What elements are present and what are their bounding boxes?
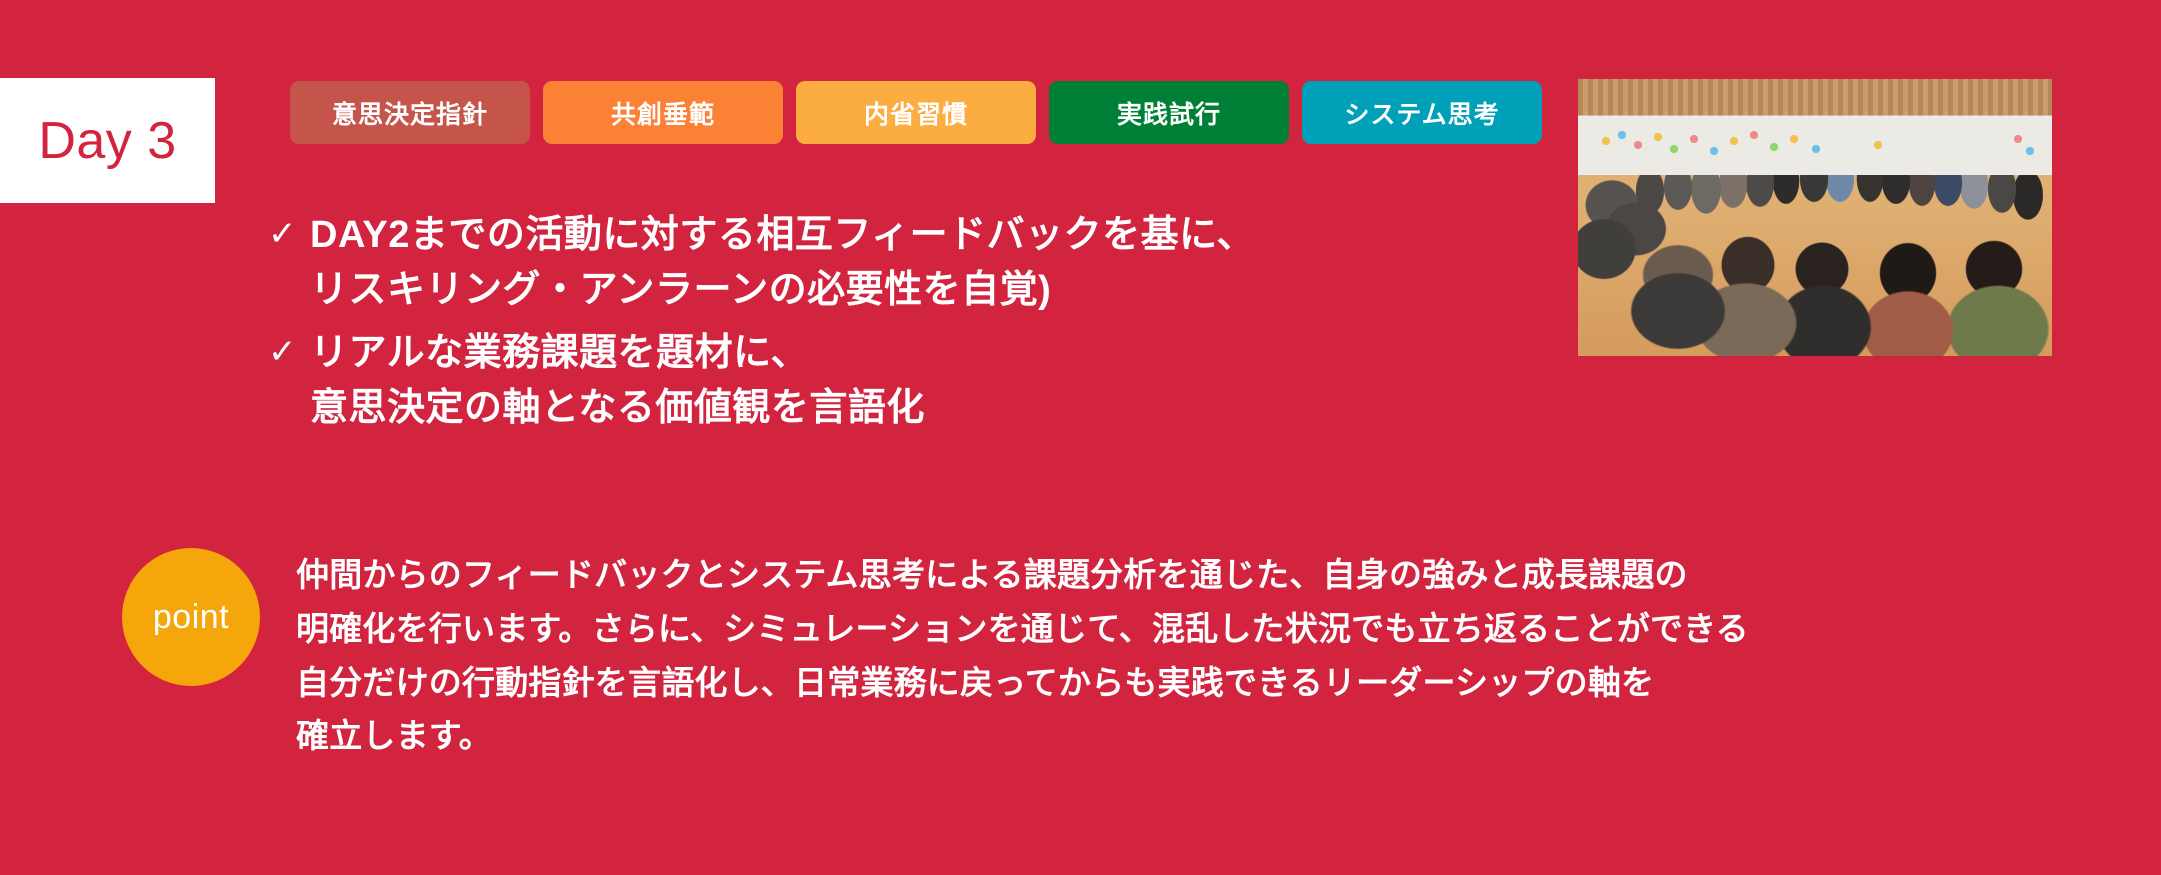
point-line: 確立します。	[296, 709, 2076, 763]
bullet-list: ✓ DAY2までの活動に対する相互フィードバックを基に、 ✓ リスキリング・アン…	[268, 208, 1568, 444]
point-badge: point	[122, 548, 260, 686]
bullet-indent-spacer: ✓	[268, 381, 310, 434]
point-paragraph: 仲間からのフィードバックとシステム思考による課題分析を通じた、自身の強みと成長課…	[296, 548, 2076, 763]
day-badge: Day 3	[0, 78, 215, 203]
bullet-text: リアルな業務課題を題材に、	[310, 326, 1568, 381]
point-line: 自分だけの行動指針を言語化し、日常業務に戻ってからも実践できるリーダーシップの軸…	[296, 656, 2076, 710]
tag-chip-systems-thinking[interactable]: システム思考	[1302, 81, 1542, 144]
bullet-line: ✓ リスキリング・アンラーンの必要性を自覚)	[268, 263, 1568, 318]
bullet-line: ✓ リアルな業務課題を題材に、	[268, 326, 1568, 381]
bullet-item-1: ✓ DAY2までの活動に対する相互フィードバックを基に、 ✓ リスキリング・アン…	[268, 208, 1568, 318]
workshop-photo-ceiling-boards	[1578, 79, 2052, 175]
workshop-photo	[1578, 79, 2052, 356]
tag-chip-reflection-habit[interactable]: 内省習慣	[796, 81, 1036, 144]
tag-label: 共創垂範	[611, 95, 715, 131]
slide-root: Day 3 意思決定指針 共創垂範 内省習慣 実践試行 システム思考 ✓ DAY…	[0, 0, 2161, 875]
bullet-text: リスキリング・アンラーンの必要性を自覚)	[310, 263, 1568, 318]
tag-label: 内省習慣	[864, 95, 968, 131]
bullet-indent-spacer: ✓	[268, 263, 310, 316]
tag-label: 実践試行	[1117, 95, 1221, 131]
bullet-text: DAY2までの活動に対する相互フィードバックを基に、	[310, 208, 1568, 263]
point-badge-label: point	[153, 600, 229, 634]
point-line: 明確化を行います。さらに、シミュレーションを通じて、混乱した状況でも立ち返ること…	[296, 602, 2076, 656]
point-line: 仲間からのフィードバックとシステム思考による課題分析を通じた、自身の強みと成長課…	[296, 548, 2076, 602]
bullet-item-2: ✓ リアルな業務課題を題材に、 ✓ 意思決定の軸となる価値観を言語化	[268, 326, 1568, 436]
bullet-line: ✓ 意思決定の軸となる価値観を言語化	[268, 381, 1568, 436]
bullet-line: ✓ DAY2までの活動に対する相互フィードバックを基に、	[268, 208, 1568, 263]
tag-label: システム思考	[1344, 95, 1499, 131]
tag-label: 意思決定指針	[332, 95, 488, 131]
bullet-text: 意思決定の軸となる価値観を言語化	[310, 381, 1568, 436]
day-badge-label: Day 3	[38, 115, 176, 167]
tag-chip-decision-policy[interactable]: 意思決定指針	[290, 81, 530, 144]
tag-row: 意思決定指針 共創垂範 内省習慣 実践試行 システム思考	[290, 81, 1542, 144]
tag-chip-practice-trial[interactable]: 実践試行	[1049, 81, 1289, 144]
check-icon: ✓	[268, 208, 310, 261]
tag-chip-co-creation[interactable]: 共創垂範	[543, 81, 783, 144]
check-icon: ✓	[268, 326, 310, 379]
